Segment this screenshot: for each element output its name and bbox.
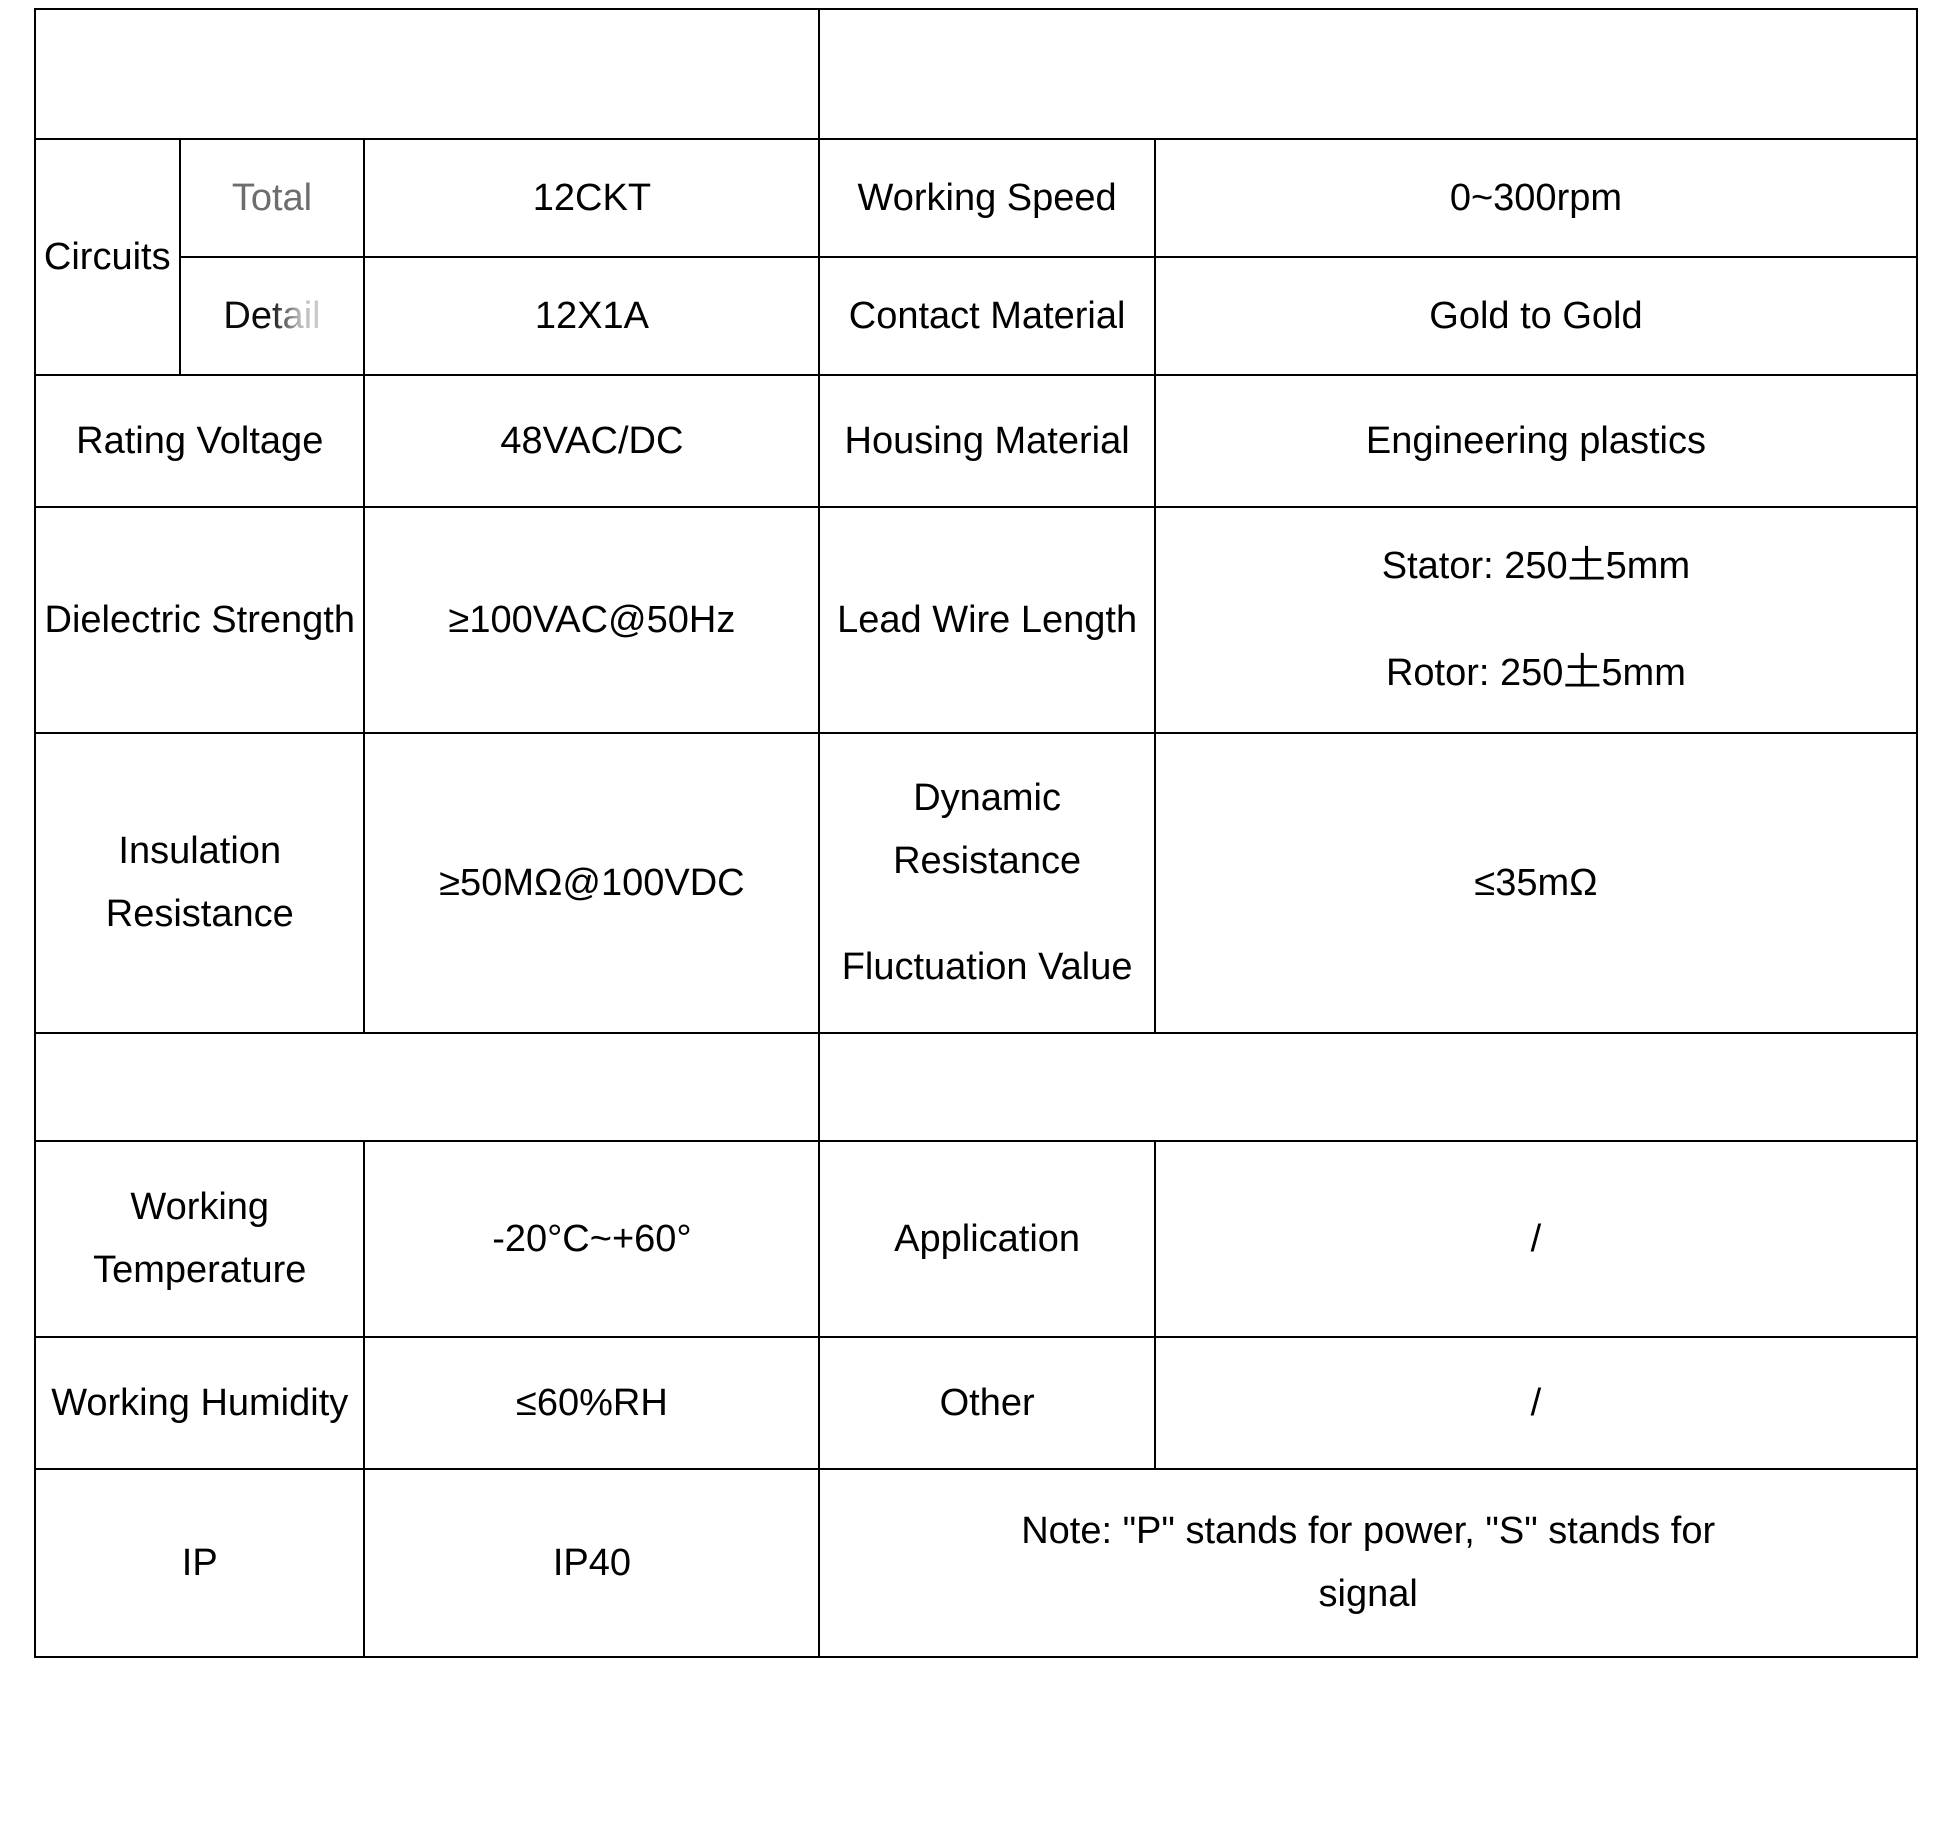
lead-wire-stator-text: Stator: 250土5mm (1162, 535, 1910, 598)
dynamic-label-line1: Dynamic (826, 767, 1148, 830)
insulation-label-line1: Insulation (42, 820, 357, 883)
section-header-mechanical: Mechanical (819, 9, 1917, 139)
insulation-label-line2: Resistance (42, 883, 357, 946)
working-temperature-label-stack: Working Temperature (42, 1176, 357, 1301)
cell-circuits-detail-value: 12X1A (364, 257, 819, 375)
dynamic-resistance-label-stack: Dynamic Resistance Fluctuation Value (826, 767, 1148, 999)
lead-wire-rotor-text: Rotor: 250土5mm (1162, 642, 1910, 705)
cell-insulation-resistance-label: Insulation Resistance (35, 733, 364, 1033)
table-row-insulation-resistance: Insulation Resistance ≥50MΩ@100VDC Dynam… (35, 733, 1917, 1033)
lead-wire-gap (1162, 598, 1910, 642)
cell-ip-value: IP40 (364, 1469, 819, 1657)
lead-wire-length-stack: Stator: 250土5mm Rotor: 250土5mm (1162, 535, 1910, 704)
working-temp-label-line2: Temperature (42, 1239, 357, 1302)
cell-dielectric-strength-label: Dielectric Strength (35, 507, 364, 733)
cell-housing-material-label: Housing Material (819, 375, 1155, 507)
table-row-circuits-detail: Detail 12X1A Contact Material Gold to Go… (35, 257, 1917, 375)
dynamic-label-gap (826, 892, 1148, 936)
cell-contact-material-value: Gold to Gold (1155, 257, 1917, 375)
spec-table-sheet: Electronic & Electric Mechanical Circuit… (0, 0, 1944, 1843)
cell-other-label: Other (819, 1337, 1155, 1469)
remarks-note-stack: Note: "P" stands for power, "S" stands f… (826, 1500, 1910, 1625)
remarks-note-line1: Note: "P" stands for power, "S" stands f… (826, 1500, 1910, 1563)
cell-remarks-note: Note: "P" stands for power, "S" stands f… (819, 1469, 1917, 1657)
cell-working-speed-label: Working Speed (819, 139, 1155, 257)
cell-other-value: / (1155, 1337, 1917, 1469)
specification-table: Electronic & Electric Mechanical Circuit… (34, 8, 1918, 1658)
working-temp-label-line1: Working (42, 1176, 357, 1239)
table-row-working-humidity: Working Humidity ≤60%RH Other / (35, 1337, 1917, 1469)
cell-lead-wire-length-value: Stator: 250土5mm Rotor: 250土5mm (1155, 507, 1917, 733)
table-row-rating-voltage: Rating Voltage 48VAC/DC Housing Material… (35, 375, 1917, 507)
cell-application-value: / (1155, 1141, 1917, 1337)
cell-dynamic-resistance-value: ≤35mΩ (1155, 733, 1917, 1033)
circuits-detail-label-text: Detail (223, 295, 320, 337)
table-row-working-temperature: Working Temperature -20°C~+60° Applicati… (35, 1141, 1917, 1337)
section-header-electronic-electric: Electronic & Electric (35, 9, 819, 139)
cell-circuits-detail-label: Detail (180, 257, 365, 375)
cell-circuits-total-value: 12CKT (364, 139, 819, 257)
cell-dielectric-strength-value: ≥100VAC@50Hz (364, 507, 819, 733)
cell-working-temperature-label: Working Temperature (35, 1141, 364, 1337)
cell-ip-label: IP (35, 1469, 364, 1657)
table-row-ip: IP IP40 Note: "P" stands for power, "S" … (35, 1469, 1917, 1657)
cell-circuits-total-label: Total (180, 139, 365, 257)
cell-dynamic-resistance-label: Dynamic Resistance Fluctuation Value (819, 733, 1155, 1033)
table-row-circuits-total: Circuits Total 12CKT Working Speed 0~300… (35, 139, 1917, 257)
cell-working-humidity-value: ≤60%RH (364, 1337, 819, 1469)
cell-rating-voltage-value: 48VAC/DC (364, 375, 819, 507)
table-row-dielectric-strength: Dielectric Strength ≥100VAC@50Hz Lead Wi… (35, 507, 1917, 733)
cell-application-label: Application (819, 1141, 1155, 1337)
cell-rating-voltage-label: Rating Voltage (35, 375, 364, 507)
insulation-resistance-label-stack: Insulation Resistance (42, 820, 357, 945)
remarks-note-line2: signal (826, 1563, 1910, 1626)
cell-contact-material-label: Contact Material (819, 257, 1155, 375)
section-header-environment: Environment (35, 1033, 819, 1141)
dynamic-label-line2: Resistance (826, 830, 1148, 893)
cell-lead-wire-length-label: Lead Wire Length (819, 507, 1155, 733)
cell-working-speed-value: 0~300rpm (1155, 139, 1917, 257)
cell-working-humidity-label: Working Humidity (35, 1337, 364, 1469)
cell-circuits-label: Circuits (35, 139, 180, 375)
cell-working-temperature-value: -20°C~+60° (364, 1141, 819, 1337)
section-header-row: Electronic & Electric Mechanical (35, 9, 1917, 139)
section-header-row-2: Environment Remarks (35, 1033, 1917, 1141)
dynamic-label-line3: Fluctuation Value (826, 936, 1148, 999)
section-header-remarks: Remarks (819, 1033, 1917, 1141)
cell-housing-material-value: Engineering plastics (1155, 375, 1917, 507)
cell-insulation-resistance-value: ≥50MΩ@100VDC (364, 733, 819, 1033)
